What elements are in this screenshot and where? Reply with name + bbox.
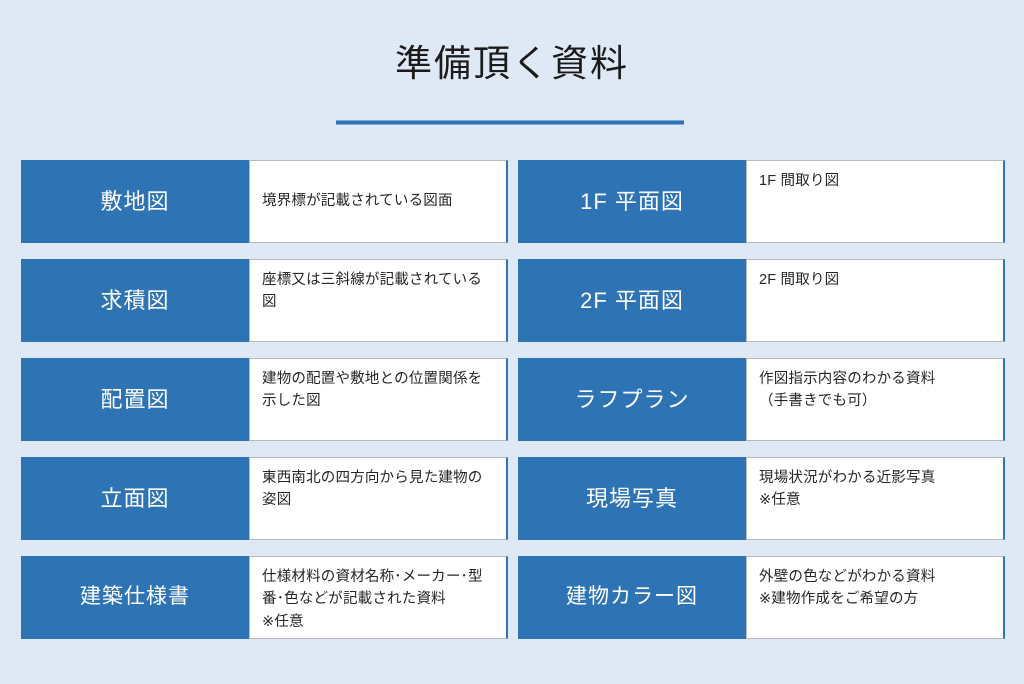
card-description: 境界標が記載されている図面 [249, 160, 508, 243]
checklist-card-tatemono-color-zu[interactable]: 建物カラー図 外壁の色などがわかる資料 ※建物作成をご希望の方 [518, 556, 1005, 639]
card-label: 現場写真 [518, 457, 746, 540]
card-label: 1F 平面図 [518, 160, 746, 243]
title-block: 準備頂く資料 [0, 40, 1024, 88]
card-description: 仕様材料の資材名称･メーカー･型番･色などが記載された資料 ※任意 [249, 556, 508, 639]
checklist-card-rimenzu[interactable]: 立面図 東西南北の四方向から見た建物の姿図 [21, 457, 508, 540]
checklist-card-genba-shashin[interactable]: 現場写真 現場状況がわかる近影写真 ※任意 [518, 457, 1005, 540]
card-label: 敷地図 [21, 160, 249, 243]
checklist-card-kyusekizu[interactable]: 求積図 座標又は三斜線が記載されている図 [21, 259, 508, 342]
card-label: 建物カラー図 [518, 556, 746, 639]
card-label: 求積図 [21, 259, 249, 342]
card-label: 2F 平面図 [518, 259, 746, 342]
card-description: 外壁の色などがわかる資料 ※建物作成をご希望の方 [746, 556, 1005, 639]
card-label: 立面図 [21, 457, 249, 540]
card-label: 建築仕様書 [21, 556, 249, 639]
checklist-card-shikichizu[interactable]: 敷地図 境界標が記載されている図面 [21, 160, 508, 243]
checklist-card-rough-plan[interactable]: ラフプラン 作図指示内容のわかる資料 （手書きでも可） [518, 358, 1005, 441]
card-description: 1F 間取り図 [746, 160, 1005, 243]
title-underline-rule [336, 120, 684, 125]
checklist-card-kenchiku-shiyosho[interactable]: 建築仕様書 仕様材料の資材名称･メーカー･型番･色などが記載された資料 ※任意 [21, 556, 508, 639]
card-description: 2F 間取り図 [746, 259, 1005, 342]
card-description: 東西南北の四方向から見た建物の姿図 [249, 457, 508, 540]
card-description: 作図指示内容のわかる資料 （手書きでも可） [746, 358, 1005, 441]
page-title: 準備頂く資料 [0, 40, 1024, 88]
card-description: 座標又は三斜線が記載されている図 [249, 259, 508, 342]
checklist-card-haichizu[interactable]: 配置図 建物の配置や敷地との位置関係を示した図 [21, 358, 508, 441]
card-label: ラフプラン [518, 358, 746, 441]
slide-root: 準備頂く資料 敷地図 境界標が記載されている図面 1F 平面図 1F 間取り図 … [0, 0, 1024, 684]
card-description: 現場状況がわかる近影写真 ※任意 [746, 457, 1005, 540]
checklist-card-1f-heimenzu[interactable]: 1F 平面図 1F 間取り図 [518, 160, 1005, 243]
card-description: 建物の配置や敷地との位置関係を示した図 [249, 358, 508, 441]
document-checklist-grid: 敷地図 境界標が記載されている図面 1F 平面図 1F 間取り図 求積図 座標又… [21, 160, 1005, 640]
checklist-card-2f-heimenzu[interactable]: 2F 平面図 2F 間取り図 [518, 259, 1005, 342]
card-label: 配置図 [21, 358, 249, 441]
